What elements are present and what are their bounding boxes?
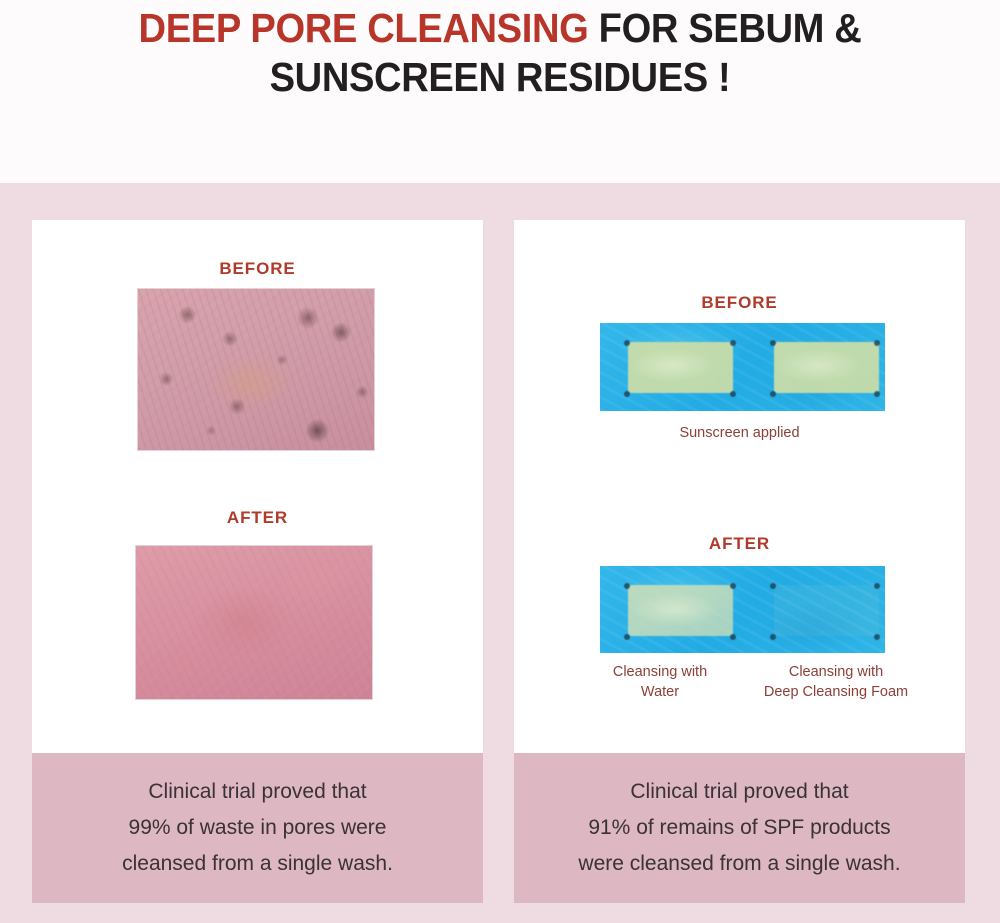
marker-dot [874, 391, 880, 397]
right-after-label: AFTER [514, 534, 965, 554]
header-banner: DEEP PORE CLEANSING FOR SEBUM & SUNSCREE… [0, 0, 1000, 183]
marker-dot [874, 340, 880, 346]
marker-dot [730, 583, 736, 589]
marker-dot [624, 391, 630, 397]
uv-after-caption-foam: Cleansing with Deep Cleansing Foam [746, 662, 926, 702]
marker-dot [770, 391, 776, 397]
right-before-label: BEFORE [514, 293, 965, 313]
marker-dot [770, 634, 776, 640]
left-footer-text: Clinical trial proved that 99% of waste … [122, 774, 393, 882]
uv-before-patch-left [628, 342, 733, 393]
left-footer-band: Clinical trial proved that 99% of waste … [32, 753, 483, 903]
marker-dot [624, 583, 630, 589]
content-stage: BEFORE AFTER Clinical trial proved that … [0, 183, 1000, 923]
marker-dot [770, 583, 776, 589]
marker-dot [624, 634, 630, 640]
right-footer-band: Clinical trial proved that 91% of remain… [514, 753, 965, 903]
left-after-label: AFTER [32, 508, 483, 528]
marker-dot [730, 634, 736, 640]
uv-after-patch-foam [774, 585, 879, 636]
uv-after-patch-water [628, 585, 733, 636]
left-before-label: BEFORE [32, 259, 483, 279]
promo-infographic: DEEP PORE CLEANSING FOR SEBUM & SUNSCREE… [0, 0, 1000, 923]
marker-dot [730, 391, 736, 397]
marker-dot [874, 634, 880, 640]
marker-dot [730, 340, 736, 346]
marker-dot [624, 340, 630, 346]
page-title-highlight: DEEP PORE CLEANSING [139, 5, 589, 51]
right-footer-text: Clinical trial proved that 91% of remain… [578, 774, 900, 882]
skin-after-image [135, 545, 373, 700]
page-title: DEEP PORE CLEANSING FOR SEBUM & SUNSCREE… [54, 4, 947, 102]
uv-before-patch-right [774, 342, 879, 393]
uv-before-caption: Sunscreen applied [514, 423, 965, 443]
uv-after-caption-water: Cleansing with Water [584, 662, 736, 702]
panel-left-body: BEFORE AFTER [32, 220, 483, 753]
marker-dot [770, 340, 776, 346]
panel-sunscreen-residue: BEFORE Sunscreen applied AFTER [514, 220, 965, 903]
marker-dot [874, 583, 880, 589]
panel-deep-pore-cleansing: BEFORE AFTER Clinical trial proved that … [32, 220, 483, 903]
panel-right-body: BEFORE Sunscreen applied AFTER [514, 220, 965, 753]
uv-before-image [600, 323, 885, 411]
skin-before-image [137, 288, 375, 451]
uv-after-image [600, 566, 885, 653]
